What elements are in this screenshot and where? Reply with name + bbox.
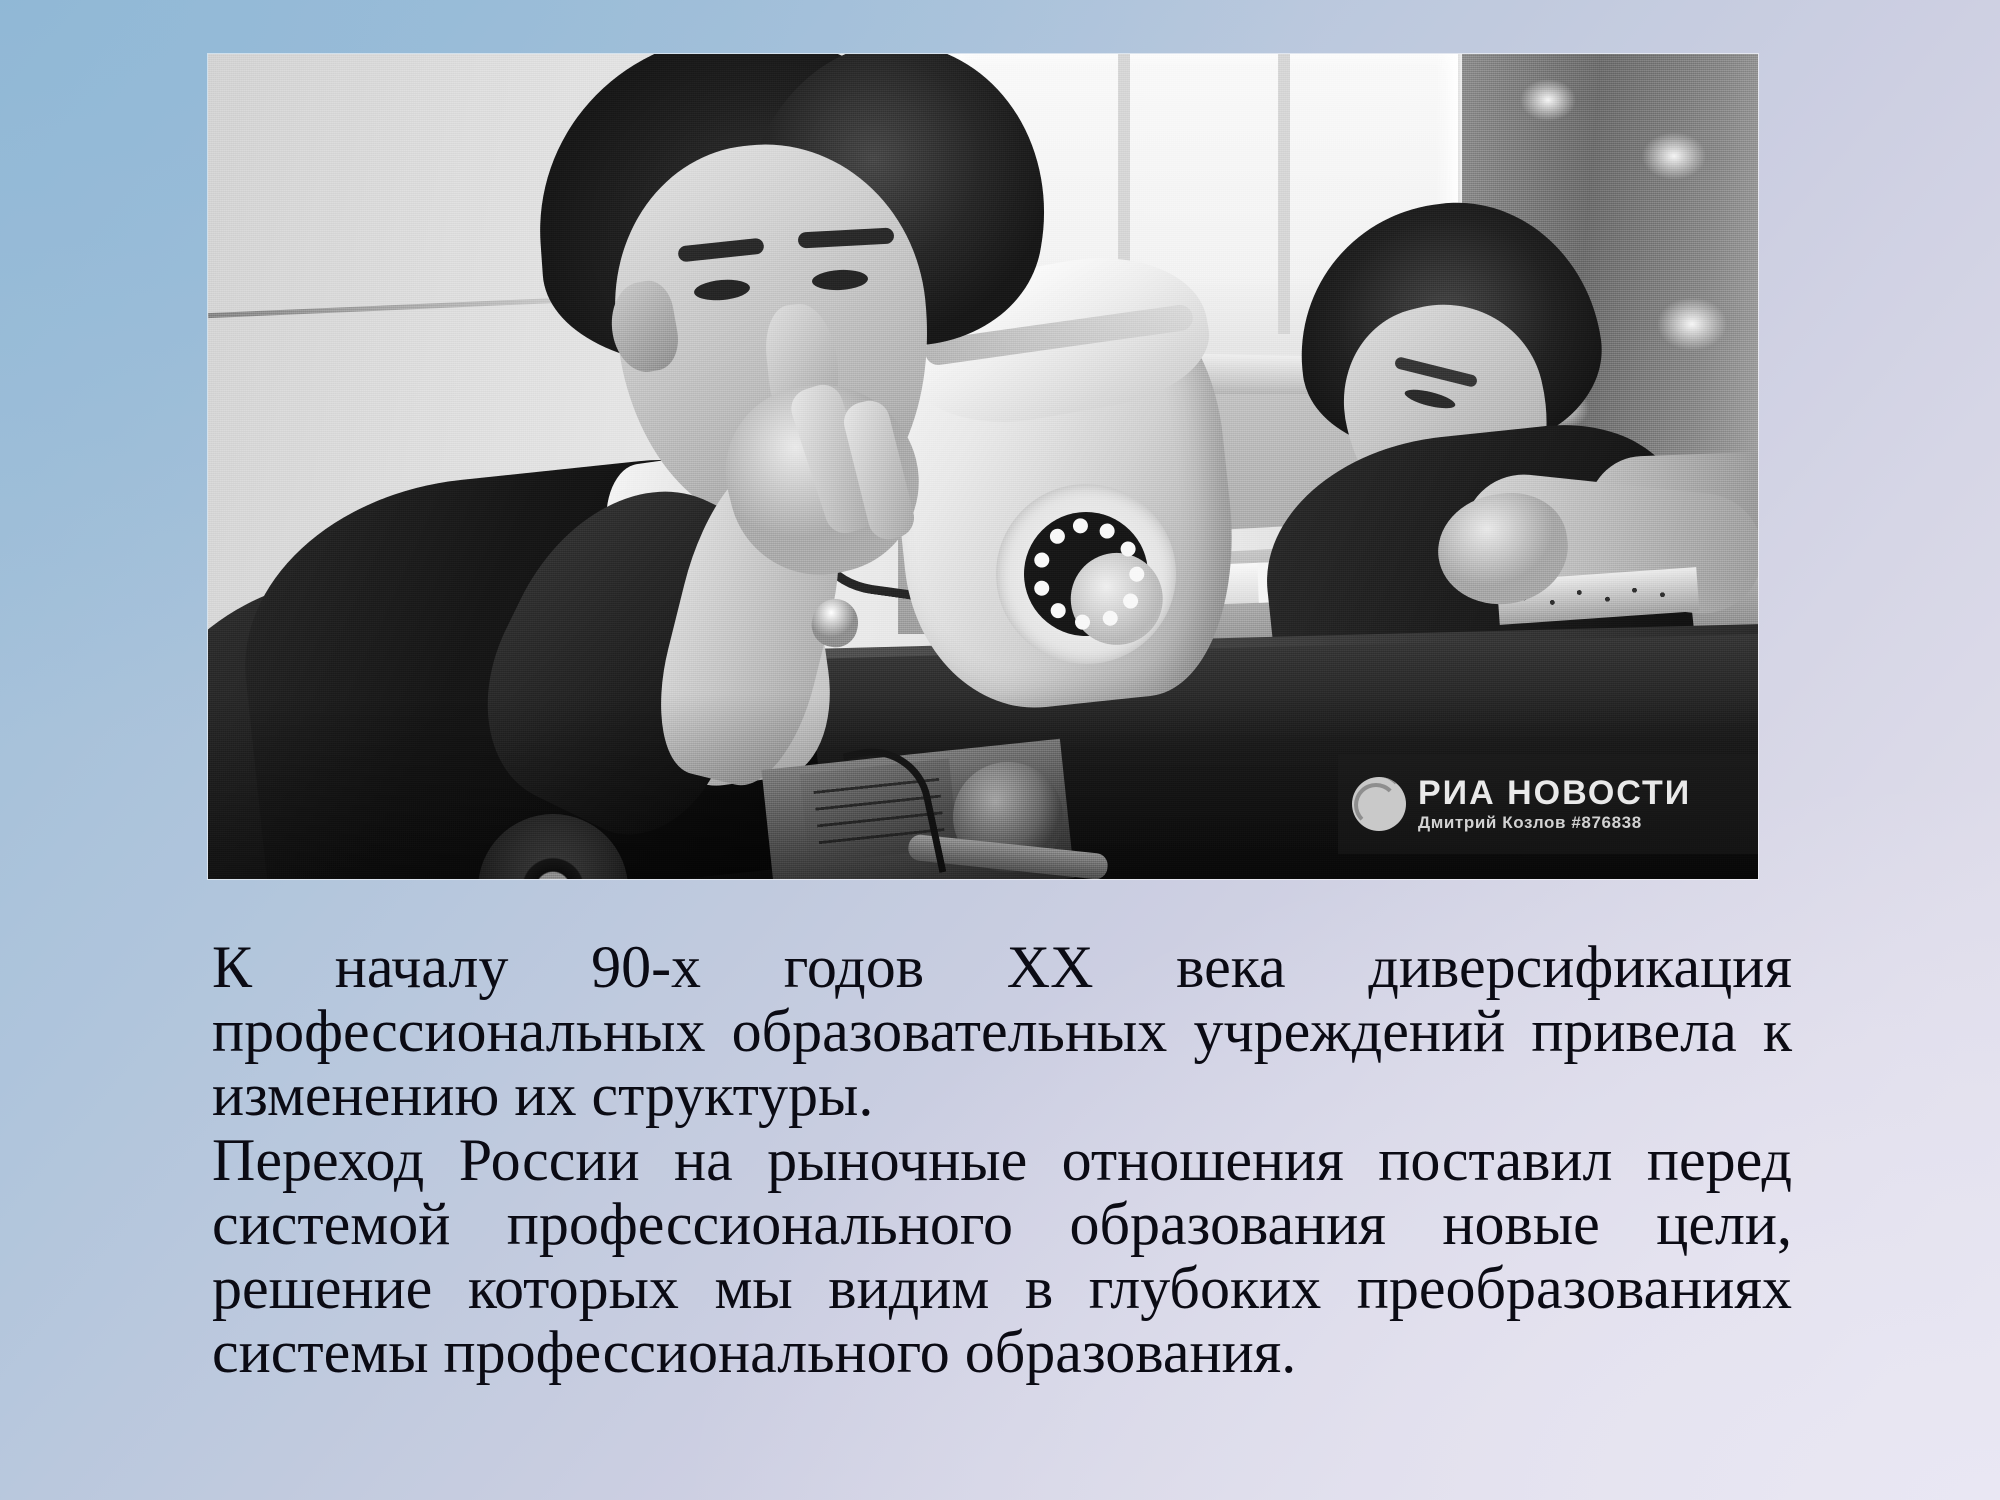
watermark-agency-name: РИА НОВОСТИ: [1418, 776, 1691, 812]
watermark-text: РИА НОВОСТИ Дмитрий Козлов #876838: [1418, 776, 1691, 833]
dial-hole: [1072, 518, 1088, 534]
dial-hole: [1050, 602, 1066, 618]
dial-hole: [1099, 523, 1115, 539]
slide-body-text: К началу 90-х годов XX века диверсификац…: [212, 935, 1792, 1384]
paragraph-2: Переход России на рыночные отношения пос…: [212, 1128, 1792, 1385]
paragraph-1: К началу 90-х годов XX века диверсификац…: [212, 935, 1792, 1128]
dial-hole: [1033, 580, 1049, 596]
watermark: РИА НОВОСТИ Дмитрий Козлов #876838: [1338, 754, 1758, 854]
photo-frame: РИА НОВОСТИ Дмитрий Козлов #876838: [208, 54, 1758, 879]
dial-hole: [1120, 541, 1136, 557]
window-mullion: [1278, 54, 1290, 334]
dial-center: [1066, 548, 1167, 649]
dial-ring: [1018, 506, 1154, 642]
ria-novosti-logo-icon: [1352, 777, 1406, 831]
slide-canvas: РИА НОВОСТИ Дмитрий Козлов #876838 К нач…: [0, 0, 2000, 1500]
watermark-credit: Дмитрий Козлов #876838: [1418, 814, 1691, 832]
dial-hole: [1034, 552, 1050, 568]
dial-hole: [1049, 528, 1065, 544]
